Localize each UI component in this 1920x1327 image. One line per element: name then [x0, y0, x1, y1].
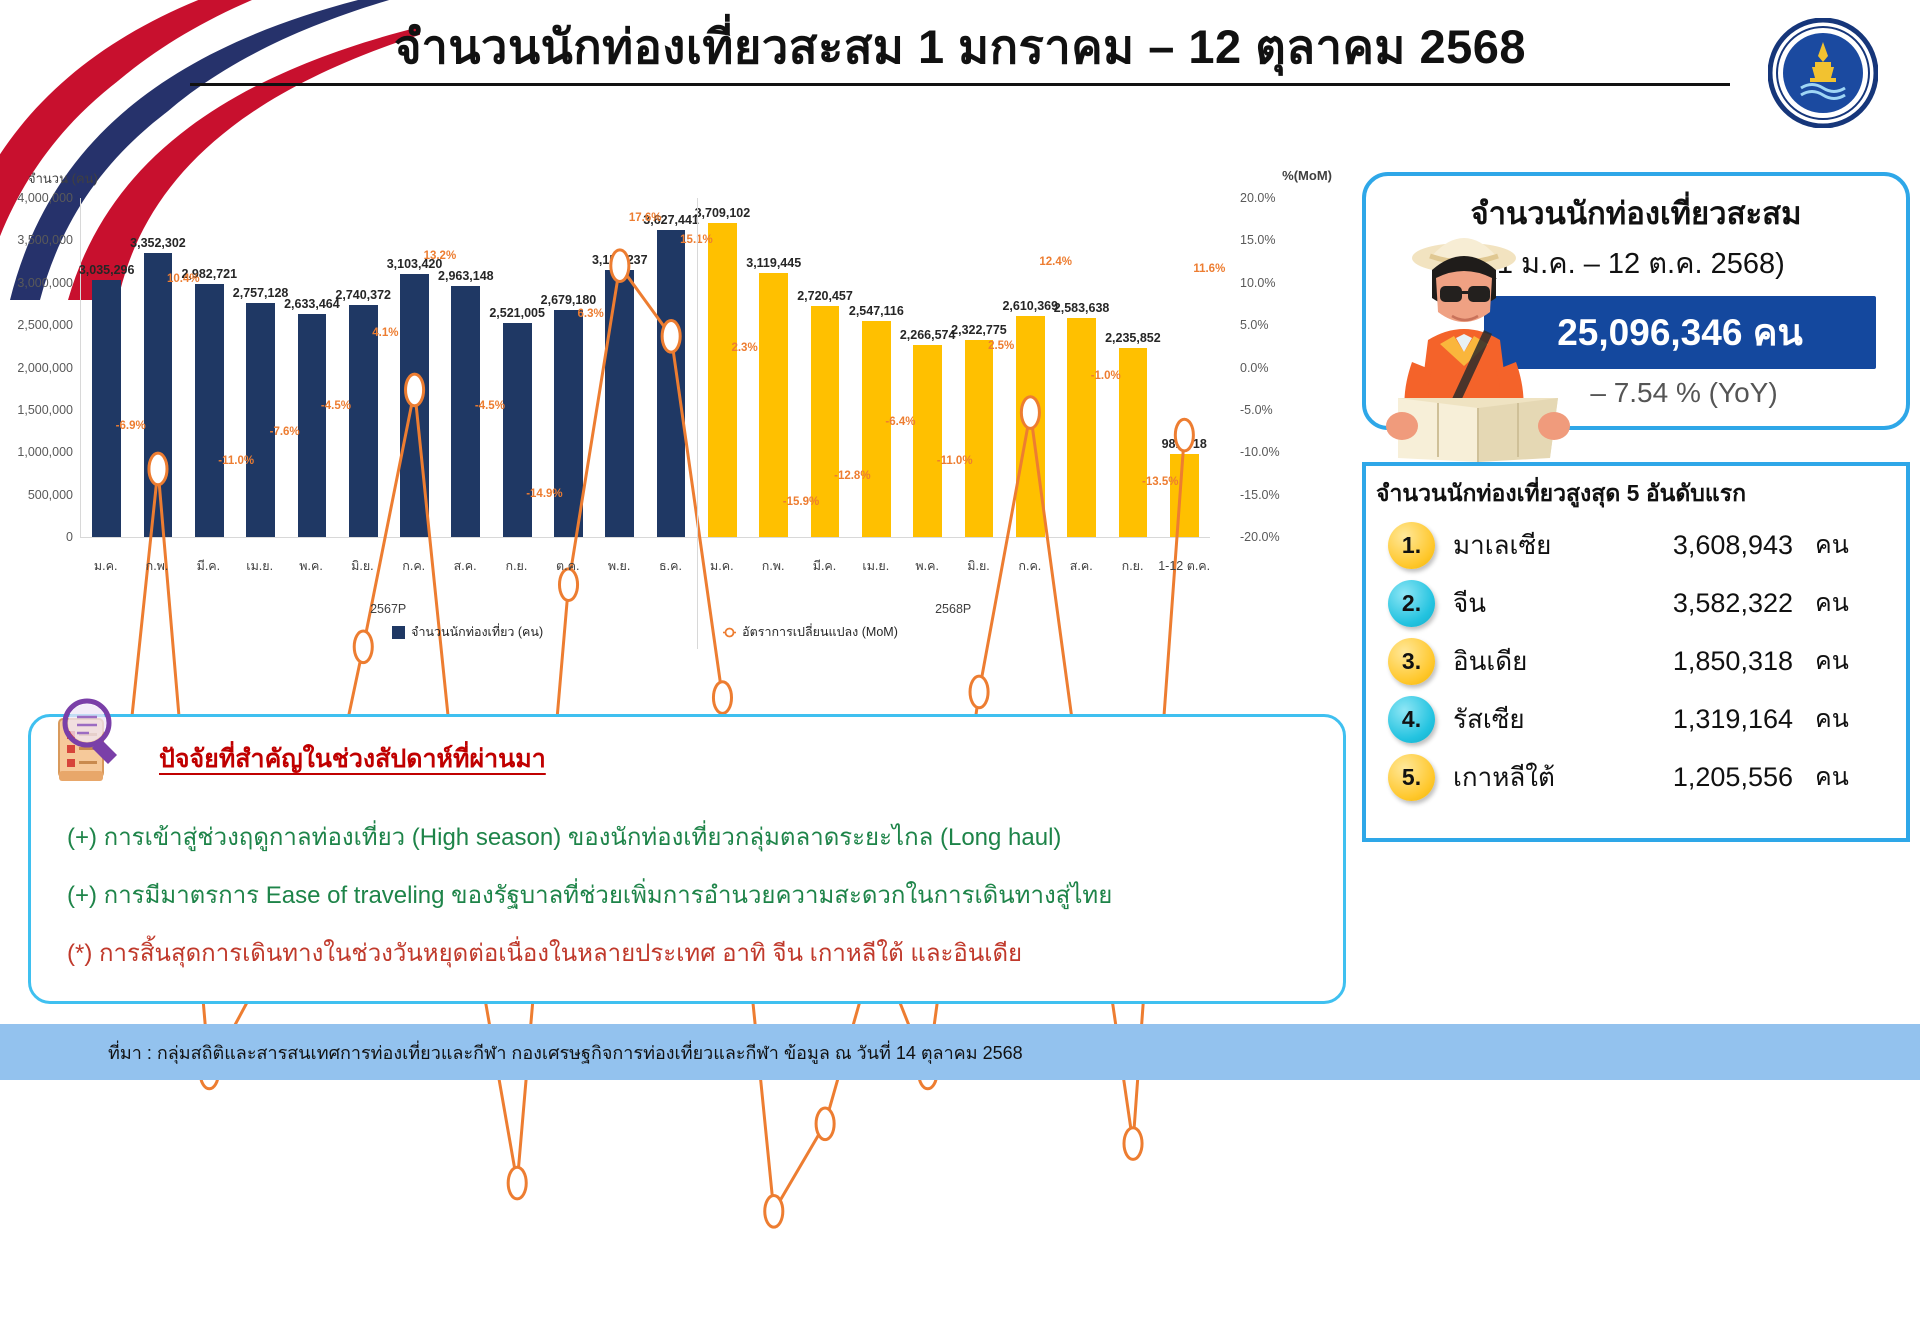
mom-data-point: [713, 682, 731, 714]
legend-label-bars: จำนวนนักท่องเที่ยว (คน): [411, 622, 543, 642]
unit-label: คน: [1793, 699, 1849, 739]
secondary-y-tick-label: -5.0%: [1210, 403, 1273, 417]
y-tick-label: 0: [66, 530, 81, 544]
x-tick-label: ต.ค.: [542, 556, 593, 576]
bar-value-label: 2,322,775: [951, 323, 1007, 337]
unit-label: คน: [1793, 757, 1849, 797]
year-group-separator: [697, 198, 698, 649]
chart-bar: 2,235,852: [1119, 348, 1148, 537]
bar-value-label: 3,150,237: [592, 253, 648, 267]
bar-slot: 2,610,369: [1005, 198, 1056, 537]
chart-bar: 981,018: [1170, 454, 1199, 537]
bar-value-label: 2,235,852: [1105, 331, 1161, 345]
bar-value-label: 2,583,638: [1054, 301, 1110, 315]
mom-percent-label: 12.4%: [1039, 256, 1072, 268]
bar-slot: 2,982,721: [184, 198, 235, 537]
y-tick-label: 3,500,000: [17, 233, 81, 247]
legend-square-icon: [392, 626, 405, 639]
tourist-arrivals-chart: จำนวน (คน) %(MoM) 3,035,2963,352,3022,98…: [10, 160, 1350, 650]
bar-value-label: 981,018: [1162, 437, 1207, 451]
country-name: มาเลเซีย: [1435, 525, 1587, 566]
x-tick-label: ก.ค.: [1004, 556, 1055, 576]
x-tick-label: ก.พ.: [131, 556, 182, 576]
mom-percent-label: 10.4%: [167, 273, 200, 285]
chart-bar: 2,757,128: [246, 303, 275, 537]
country-name: จีน: [1435, 583, 1587, 624]
x-group-label: 2568P: [935, 602, 971, 616]
x-axis-labels: ม.ค.ก.พ.มี.ค.เม.ย.พ.ค.มิ.ย.ก.ค.ส.ค.ก.ย.ต…: [80, 556, 1210, 576]
page-title: จำนวนนักท่องเที่ยวสะสม 1 มกราคม – 12 ตุล…: [150, 18, 1770, 77]
bar-value-label: 3,352,302: [130, 236, 186, 250]
bar-value-label: 2,740,372: [335, 288, 391, 302]
mom-percent-label: 6.3%: [578, 308, 604, 320]
top5-row: 4.รัสเซีย1,319,164คน: [1366, 690, 1906, 748]
traveler-with-map-illustration: [1368, 212, 1578, 462]
legend-circle-open-icon: [723, 626, 736, 639]
bar-slot: 2,266,574: [902, 198, 953, 537]
secondary-y-tick-label: -15.0%: [1210, 488, 1280, 502]
mom-data-point: [508, 1167, 526, 1199]
bar-value-label: 3,035,296: [79, 263, 135, 277]
y-tick-label: 2,500,000: [17, 318, 81, 332]
bar-value-label: 3,709,102: [695, 206, 751, 220]
unit-label: คน: [1793, 641, 1849, 681]
bar-slot: 3,150,237: [594, 198, 645, 537]
chart-bar: 2,266,574: [913, 345, 942, 537]
chart-bar: 2,583,638: [1067, 318, 1096, 537]
bar-slot: 2,679,180: [543, 198, 594, 537]
rank-badge: 3.: [1388, 638, 1435, 685]
chart-bar: 2,633,464: [298, 314, 327, 537]
mom-percent-label: -7.6%: [270, 426, 300, 438]
secondary-y-tick-label: -10.0%: [1210, 445, 1280, 459]
bar-value-label: 3,119,445: [746, 256, 801, 270]
country-arrivals: 1,319,164: [1587, 704, 1793, 735]
secondary-y-axis-title: %(MoM): [1282, 168, 1332, 183]
mom-percent-label: 2.5%: [988, 340, 1014, 352]
chart-bar: 2,679,180: [554, 310, 583, 537]
country-name: เกาหลีใต้: [1435, 757, 1587, 798]
y-tick-label: 1,000,000: [17, 445, 81, 459]
chart-bar: 3,352,302: [144, 253, 173, 537]
chart-bar: 3,627,441: [657, 230, 686, 537]
mom-data-point: [1124, 1128, 1142, 1160]
country-arrivals: 1,205,556: [1587, 762, 1793, 793]
secondary-y-tick-label: 15.0%: [1210, 233, 1275, 247]
bar-slot: 2,547,116: [851, 198, 902, 537]
x-tick-label: มิ.ย.: [337, 556, 388, 576]
legend-label-line: อัตราการเปลี่ยนแปลง (MoM): [742, 622, 898, 642]
chart-bar: 3,709,102: [708, 223, 737, 537]
bar-value-label: 2,679,180: [541, 293, 597, 307]
chart-bar: 2,610,369: [1016, 316, 1045, 537]
bar-value-label: 2,610,369: [1002, 299, 1058, 313]
x-tick-label: พ.ย.: [593, 556, 644, 576]
secondary-y-tick-label: -20.0%: [1210, 530, 1280, 544]
bar-value-label: 2,633,464: [284, 297, 340, 311]
country-name: อินเดีย: [1435, 641, 1587, 682]
y-axis-title: จำนวน (คน): [28, 168, 98, 189]
unit-label: คน: [1793, 583, 1849, 623]
x-tick-label: ก.ย.: [1107, 556, 1158, 576]
x-tick-label: ก.ย.: [491, 556, 542, 576]
bar-series: 3,035,2963,352,3022,982,7212,757,1282,63…: [81, 198, 1210, 537]
mom-percent-label: -11.0%: [218, 455, 254, 467]
x-tick-label: พ.ค.: [902, 556, 953, 576]
mom-percent-label: -12.8%: [834, 470, 870, 482]
mom-percent-label: 11.6%: [1193, 263, 1225, 275]
mom-percent-label: -1.0%: [1091, 370, 1121, 382]
mom-data-point: [970, 676, 988, 708]
x-tick-label: ส.ค.: [439, 556, 490, 576]
bar-slot: 3,627,441: [645, 198, 696, 537]
x-group-label: 2567P: [370, 602, 406, 616]
secondary-y-tick-label: 5.0%: [1210, 318, 1269, 332]
y-tick-label: 500,000: [28, 488, 81, 502]
x-tick-label: มิ.ย.: [953, 556, 1004, 576]
mom-data-point: [765, 1195, 783, 1227]
country-arrivals: 3,608,943: [1587, 530, 1793, 561]
x-tick-label: ม.ค.: [80, 556, 131, 576]
legend-item-line: อัตราการเปลี่ยนแปลง (MoM): [723, 622, 898, 642]
mom-percent-label: 13.2%: [424, 250, 457, 262]
x-tick-label: พ.ค.: [285, 556, 336, 576]
y-tick-label: 2,000,000: [17, 361, 81, 375]
mom-percent-label: -6.9%: [116, 420, 146, 432]
x-tick-label: มี.ค.: [799, 556, 850, 576]
bar-slot: 3,035,296: [81, 198, 132, 537]
source-footer: ที่มา : กลุ่มสถิติและสารสนเทศการท่องเที่…: [0, 1024, 1920, 1080]
x-tick-label: ก.ค.: [388, 556, 439, 576]
rank-badge: 1.: [1388, 522, 1435, 569]
rank-badge: 4.: [1388, 696, 1435, 743]
mom-percent-label: -4.5%: [321, 400, 351, 412]
key-factors-card: ปัจจัยที่สำคัญในช่วงสัปดาห์ที่ผ่านมา (+)…: [28, 714, 1346, 1004]
chart-plot-area: 3,035,2963,352,3022,982,7212,757,1282,63…: [80, 198, 1210, 538]
mom-percent-label: 17.6%: [629, 212, 662, 224]
chart-bar: 2,322,775: [965, 340, 994, 537]
bar-slot: 3,352,302: [132, 198, 183, 537]
mom-percent-label: -14.9%: [526, 488, 562, 500]
ministry-of-tourism-and-sports-logo-icon: [1768, 18, 1878, 128]
country-name: รัสเซีย: [1435, 699, 1587, 740]
chart-bar: 2,547,116: [862, 321, 891, 537]
mom-percent-label: 4.1%: [372, 327, 398, 339]
x-tick-label: 1-12 ต.ค.: [1158, 556, 1210, 576]
top5-list: 1.มาเลเซีย3,608,943คน2.จีน3,582,322คน3.อ…: [1366, 516, 1906, 806]
mom-percent-label: -4.5%: [475, 400, 505, 412]
bar-slot: 3,709,102: [697, 198, 748, 537]
top5-card-title: จำนวนนักท่องเที่ยวสูงสุด 5 อันดับแรก: [1366, 466, 1906, 516]
bar-value-label: 2,963,148: [438, 269, 494, 283]
bar-value-label: 2,521,005: [489, 306, 545, 320]
bar-slot: 2,720,457: [799, 198, 850, 537]
bar-value-label: 2,547,116: [849, 304, 904, 318]
chart-bar: 2,982,721: [195, 284, 224, 537]
key-factor-3: (*) การสิ้นสุดการเดินทางในช่วงวันหยุดต่อ…: [67, 933, 1022, 972]
chart-legend: จำนวนนักท่องเที่ยว (คน) อัตราการเปลี่ยนแ…: [80, 622, 1210, 642]
x-tick-label: มี.ค.: [183, 556, 234, 576]
x-tick-label: เม.ย.: [234, 556, 285, 576]
mom-percent-label: -11.0%: [937, 455, 973, 467]
secondary-y-tick-label: 20.0%: [1210, 191, 1275, 205]
rank-badge: 2.: [1388, 580, 1435, 627]
chart-bar: 3,150,237: [605, 270, 634, 537]
x-tick-label: ม.ค.: [696, 556, 747, 576]
mom-data-point: [816, 1108, 834, 1140]
secondary-y-tick-label: 10.0%: [1210, 276, 1275, 290]
mom-percent-label: -15.9%: [783, 496, 819, 508]
bar-slot: 3,119,445: [748, 198, 799, 537]
legend-item-bars: จำนวนนักท่องเที่ยว (คน): [392, 622, 543, 642]
y-tick-label: 3,000,000: [17, 276, 81, 290]
x-tick-label: ก.พ.: [747, 556, 798, 576]
bar-value-label: 2,266,574: [900, 328, 956, 342]
y-tick-label: 4,000,000: [17, 191, 81, 205]
bar-slot: 2,757,128: [235, 198, 286, 537]
unit-label: คน: [1793, 525, 1849, 565]
x-tick-label: เม.ย.: [850, 556, 901, 576]
bar-slot: 2,521,005: [492, 198, 543, 537]
top5-row: 3.อินเดีย1,850,318คน: [1366, 632, 1906, 690]
mom-percent-label: -6.4%: [885, 416, 915, 428]
chart-bar: 3,103,420: [400, 274, 429, 537]
bar-value-label: 2,757,128: [233, 286, 289, 300]
mom-percent-label: -13.5%: [1142, 476, 1178, 488]
bar-value-label: 2,720,457: [797, 289, 853, 303]
bar-slot: 2,583,638: [1056, 198, 1107, 537]
top5-row: 5.เกาหลีใต้1,205,556คน: [1366, 748, 1906, 806]
source-text: ที่มา : กลุ่มสถิติและสารสนเทศการท่องเที่…: [0, 1038, 1023, 1067]
page-header: จำนวนนักท่องเที่ยวสะสม 1 มกราคม – 12 ตุล…: [150, 18, 1770, 118]
key-factor-1: (+) การเข้าสู่ช่วงฤดูกาลท่องเที่ยว (High…: [67, 817, 1061, 856]
y-tick-label: 1,500,000: [17, 403, 81, 417]
top5-row: 2.จีน3,582,322คน: [1366, 574, 1906, 632]
chart-bar: 2,740,372: [349, 305, 378, 537]
top5-nationalities-card: จำนวนนักท่องเที่ยวสูงสุด 5 อันดับแรก 1.ม…: [1362, 462, 1910, 842]
rank-badge: 5.: [1388, 754, 1435, 801]
key-factor-2: (+) การมีมาตรการ Ease of traveling ของรั…: [67, 875, 1112, 914]
mom-percent-label: 2.3%: [731, 342, 757, 354]
clipboard-magnifier-icon: [37, 693, 141, 797]
bar-slot: 2,740,372: [338, 198, 389, 537]
key-factors-heading: ปัจจัยที่สำคัญในช่วงสัปดาห์ที่ผ่านมา: [159, 739, 546, 779]
secondary-y-tick-label: 0.0%: [1210, 361, 1269, 375]
top5-row: 1.มาเลเซีย3,608,943คน: [1366, 516, 1906, 574]
country-arrivals: 1,850,318: [1587, 646, 1793, 677]
x-tick-label: ธ.ค.: [645, 556, 696, 576]
bar-slot: 2,633,464: [286, 198, 337, 537]
chart-bar: 3,035,296: [92, 280, 121, 537]
title-divider: [190, 83, 1730, 86]
x-tick-label: ส.ค.: [1056, 556, 1107, 576]
country-arrivals: 3,582,322: [1587, 588, 1793, 619]
bar-slot: 2,322,775: [953, 198, 1004, 537]
chart-bar: 2,521,005: [503, 323, 532, 537]
